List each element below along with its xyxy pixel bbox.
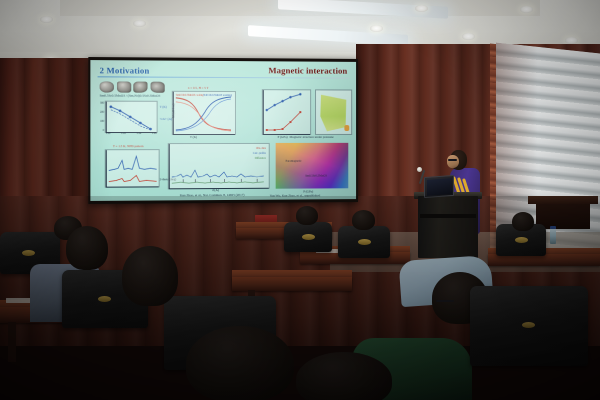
presenter-laptop[interactable] (424, 175, 454, 198)
rietveld-series (169, 144, 269, 188)
phase-diagram-overlay (276, 143, 349, 189)
magnetic-structure-caption: Magnetic structure under pressure (289, 135, 333, 139)
figure3-ylabel: M (uB/f.u.) (171, 104, 175, 119)
trend-series (263, 90, 310, 134)
y-tick-labels: 300200 1000 (100, 102, 104, 132)
recessed-downlight (565, 37, 578, 44)
laptop-screen (427, 178, 452, 196)
figure1-annotation: T (K) (160, 105, 167, 109)
chair-badge (515, 237, 528, 243)
audience-chair[interactable] (470, 286, 588, 366)
chair-badge (98, 296, 111, 302)
attendee-head (66, 226, 108, 270)
microphone-head (417, 167, 422, 172)
figure3-xlabel: T (K) (190, 135, 197, 139)
slide-title-right: Magnetic interaction (268, 65, 347, 75)
bottle-cap (550, 226, 556, 229)
figure-magnetization-transition-curves: Sm0.5Sr0.5MnO3 cooling Nd0.5Sr0.5MnO3 wa… (172, 91, 236, 135)
recessed-downlight (40, 16, 53, 23)
sample-photo (100, 81, 114, 92)
legend-difference: Difference (255, 157, 266, 160)
sample-photo (116, 81, 130, 92)
desk-leg (8, 322, 16, 362)
water-bottle[interactable] (550, 228, 556, 244)
slide-content: 2 Motivation Magnetic interaction Sm0.5S… (90, 60, 356, 201)
desk-surface (232, 270, 352, 277)
legend-series-1: Sm0.5Sr0.5MnO3 cooling (176, 94, 204, 97)
projection-screen[interactable]: 2 Motivation Magnetic interaction Sm0.5S… (88, 57, 358, 204)
diffraction-series (106, 150, 159, 187)
chair-badge (302, 234, 315, 240)
recessed-downlight (415, 5, 428, 12)
legend-observed: Obs. data (256, 147, 266, 150)
x-tick-labels: 1.201.22 1.241.26 (106, 132, 157, 135)
attendee-head (512, 212, 534, 231)
audience-chair[interactable] (284, 222, 332, 252)
chair-badge (522, 322, 535, 328)
figure-magnetic-structure-phase-region (315, 89, 352, 135)
citation-unpublished: Yan Wu, Kun Zhao, et al., unpublished (270, 193, 321, 197)
figure-rietveld-refinement-plot: Obs. data Calc. profile Difference (168, 143, 270, 189)
figure-curie-temperature-vs-radius: 300200 1000 1.201.22 1.241.26 (105, 101, 158, 133)
figure2-header: T = 1.5 K, NPD pattern (113, 144, 144, 148)
side-table-base (536, 203, 590, 229)
figure-magnetic-phase-diagram: Paramagnetic Sm0.5Sr0.5MnO3 (276, 143, 349, 189)
recessed-downlight (133, 20, 146, 27)
phase-annotation-paramagnetic: Paramagnetic (286, 159, 302, 163)
chair-badge (358, 239, 371, 245)
sample-photo (150, 82, 164, 93)
recessed-downlight (462, 33, 475, 40)
legend-series-2: Nd0.5Sr0.5MnO3 warming (203, 94, 232, 97)
sigmoid-series (173, 92, 235, 134)
attendee-head (186, 326, 294, 400)
projected-slide: 2 Motivation Magnetic interaction Sm0.5S… (90, 60, 356, 201)
attendee-head (296, 352, 392, 400)
figure5-xlabel: P (GPa) (278, 135, 288, 139)
figure-neutron-diffraction-pattern (105, 149, 160, 188)
paper-handout (6, 298, 32, 303)
side-table (528, 196, 598, 204)
attendee-glasses (436, 300, 454, 302)
slide-title-left: 2 Motivation (100, 65, 150, 75)
slide-title-divider (98, 76, 350, 79)
lectern-shelf (420, 214, 476, 218)
lectern[interactable] (418, 196, 478, 258)
sample-caption: Sm0.5Sr0.5MnO3 / (Sm,Nd)0.5Sr0.5MnO3 (100, 94, 161, 98)
phase-region-highlight (344, 125, 349, 131)
sample-photo (133, 82, 147, 93)
citation-nat-commun: Kun Zhao, et al., Nat. Commun. 8, 14925 … (180, 193, 245, 197)
attendee-head (352, 210, 375, 230)
attendee-head (122, 246, 178, 306)
presenter-face (447, 155, 459, 168)
sample-image-row (100, 81, 165, 92)
phase-annotation-compound: Sm0.5Sr0.5MnO3 (305, 174, 327, 178)
figure3-header: x = 0.5, H = 5 T (188, 86, 209, 90)
figure-transition-temperature-trend (262, 89, 311, 135)
chair-badge (22, 250, 35, 256)
audience-desk (232, 277, 352, 291)
presenter-glasses (448, 159, 457, 161)
recessed-downlight (370, 25, 383, 32)
line-series (106, 102, 157, 132)
recessed-downlight (520, 6, 533, 13)
attendee-head (296, 206, 318, 225)
audience-chair[interactable] (338, 226, 390, 258)
legend-calculated: Calc. profile (253, 152, 266, 155)
lecture-hall-photo: 2 Motivation Magnetic interaction Sm0.5S… (0, 0, 600, 400)
figure4-xlabel: d (A) (212, 188, 219, 192)
